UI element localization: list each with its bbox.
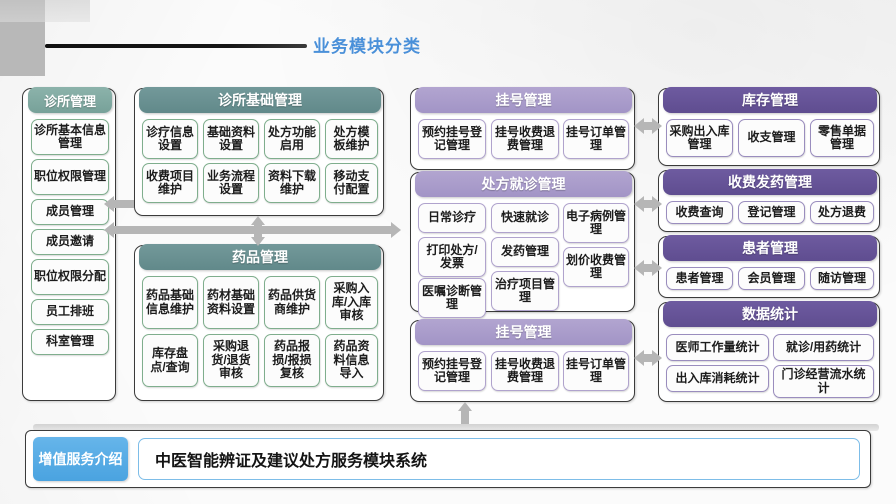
list-item[interactable]: 采购出入库管理 [666,119,733,157]
list-item[interactable]: 挂号收费退费管理 [491,119,559,159]
list-item[interactable]: 采购退货/退货审核 [203,334,259,387]
list-item[interactable]: 预约挂号登记管理 [418,119,486,159]
list-item[interactable]: 出入库消耗统计 [666,365,769,392]
panel-header-clinic-basic: 诊所基础管理 [139,87,381,113]
decorative-grey-band-top [0,0,90,22]
panel-registration-top: 挂号管理 预约挂号登记管理 挂号收费退费管理 挂号订单管理 [410,88,635,170]
panel-header-registration-top: 挂号管理 [415,87,632,113]
arrow-vertical-registration-bottom [457,402,473,426]
list-item[interactable]: 处方功能启用 [264,119,320,159]
list-item[interactable]: 库存盘点/查询 [142,334,198,387]
list-item[interactable]: 药材基础资料设置 [203,276,259,329]
list-item[interactable]: 电子病例管理 [563,203,629,243]
value-added-services-tab[interactable]: 增值服务介绍 [33,437,128,481]
list-item[interactable]: 医师工作量统计 [666,334,769,361]
panel-header-registration-bottom: 挂号管理 [415,319,632,345]
panel-header-statistics: 数据统计 [663,301,877,327]
panel-statistics: 数据统计 医师工作量统计 就诊/用药统计 出入库消耗统计 门诊经营流水统计 [658,302,880,402]
list-item[interactable]: 采购入库/入库审核 [325,276,378,329]
list-item[interactable]: 成员邀请 [31,229,109,255]
panel-header-prescription-visit: 处方就诊管理 [415,171,632,197]
slide-canvas: 业务模块分类 诊所管理 诊所基本信息管理 职位权限管理 成员管理 成员邀请 职位… [0,0,896,504]
list-item[interactable]: 科室管理 [31,329,109,355]
arrow-into-clinic-management [104,196,134,212]
panel-header-charge-dispense: 收费发药管理 [663,169,877,195]
list-item[interactable]: 收支管理 [738,119,805,157]
list-item[interactable]: 患者管理 [666,267,733,290]
list-item[interactable]: 快速就诊 [491,203,559,233]
panel-inventory: 库存管理 采购出入库管理 收支管理 零售单据管理 [658,88,880,166]
arrow-mid-right-2 [634,196,662,212]
list-item[interactable]: 会员管理 [738,267,805,290]
panel-header-patient: 患者管理 [663,235,877,261]
panel-header-clinic-management: 诊所管理 [28,87,112,113]
panel-patient: 患者管理 患者管理 会员管理 随访管理 [658,236,880,298]
list-item[interactable]: 成员管理 [31,199,109,225]
list-item[interactable]: 挂号订单管理 [563,351,629,391]
list-item[interactable]: 药品资料信息导入 [325,334,378,387]
list-item[interactable]: 登记管理 [738,201,805,224]
arrow-vertical-clinic-drug [250,216,266,246]
list-item[interactable]: 挂号订单管理 [563,119,629,159]
list-item[interactable]: 职位权限分配 [31,259,109,295]
list-item[interactable]: 日常诊疗 [418,203,486,233]
list-item[interactable]: 处方模板维护 [325,119,378,159]
title-rule [45,44,307,48]
list-item[interactable]: 预约挂号登记管理 [418,351,486,391]
panel-drug-management: 药品管理 药品基础信息维护 药材基础资料设置 药品供货商维护 采购入库/入库审核… [134,245,384,401]
arrow-mid-right-1 [634,118,662,134]
list-item[interactable]: 门诊经营流水统计 [773,365,874,398]
arrow-mid-right-4 [634,350,662,366]
list-item[interactable]: 业务流程设置 [203,163,259,203]
list-item[interactable]: 员工排班 [31,299,109,325]
list-item[interactable]: 随访管理 [810,267,874,290]
list-item[interactable]: 就诊/用药统计 [773,334,874,361]
bottom-bar: 增值服务介绍 中医智能辨证及建议处方服务模块系统 [25,430,871,488]
arrow-mid-right-3 [634,260,662,276]
list-item[interactable]: 收费项目维护 [142,163,198,203]
list-item[interactable]: 发药管理 [491,237,559,267]
list-item[interactable]: 基础资料设置 [203,119,259,159]
list-item[interactable]: 药品基础信息维护 [142,276,198,329]
list-item[interactable]: 处方退费 [810,201,874,224]
panel-header-inventory: 库存管理 [663,87,877,113]
panel-header-drug-management: 药品管理 [139,244,381,270]
panel-prescription-visit: 处方就诊管理 日常诊疗 快速就诊 电子病例管理 打印处方/发票 发药管理 划价收… [410,172,635,312]
list-item[interactable]: 资料下载维护 [264,163,320,203]
list-item[interactable]: 收费查询 [666,201,733,224]
page-title: 业务模块分类 [313,32,421,57]
panel-registration-bottom: 挂号管理 预约挂号登记管理 挂号收费退费管理 挂号订单管理 [410,320,635,402]
list-item[interactable]: 药品供货商维护 [264,276,320,329]
list-item[interactable]: 划价收费管理 [563,247,629,287]
list-item[interactable]: 诊所基本信息管理 [31,119,109,155]
list-item[interactable]: 打印处方/发票 [418,237,486,277]
list-item[interactable]: 诊疗信息设置 [142,119,198,159]
list-item[interactable]: 零售单据管理 [810,119,874,157]
list-item[interactable]: 挂号收费退费管理 [491,351,559,391]
list-item[interactable]: 移动支付配置 [325,163,378,203]
list-item[interactable]: 职位权限管理 [31,159,109,195]
list-item[interactable]: 药品报损/报损复核 [264,334,320,387]
list-item[interactable]: 治疗项目管理 [491,271,559,311]
panel-clinic-management: 诊所管理 诊所基本信息管理 职位权限管理 成员管理 成员邀请 职位权限分配 员工… [22,88,116,401]
value-added-services-field[interactable]: 中医智能辨证及建议处方服务模块系统 [138,438,860,480]
panel-charge-dispense: 收费发药管理 收费查询 登记管理 处方退费 [658,170,880,232]
panel-clinic-basic: 诊所基础管理 诊疗信息设置 基础资料设置 处方功能启用 处方模板维护 收费项目维… [134,88,384,216]
list-item[interactable]: 医嘱诊断管理 [418,278,486,318]
